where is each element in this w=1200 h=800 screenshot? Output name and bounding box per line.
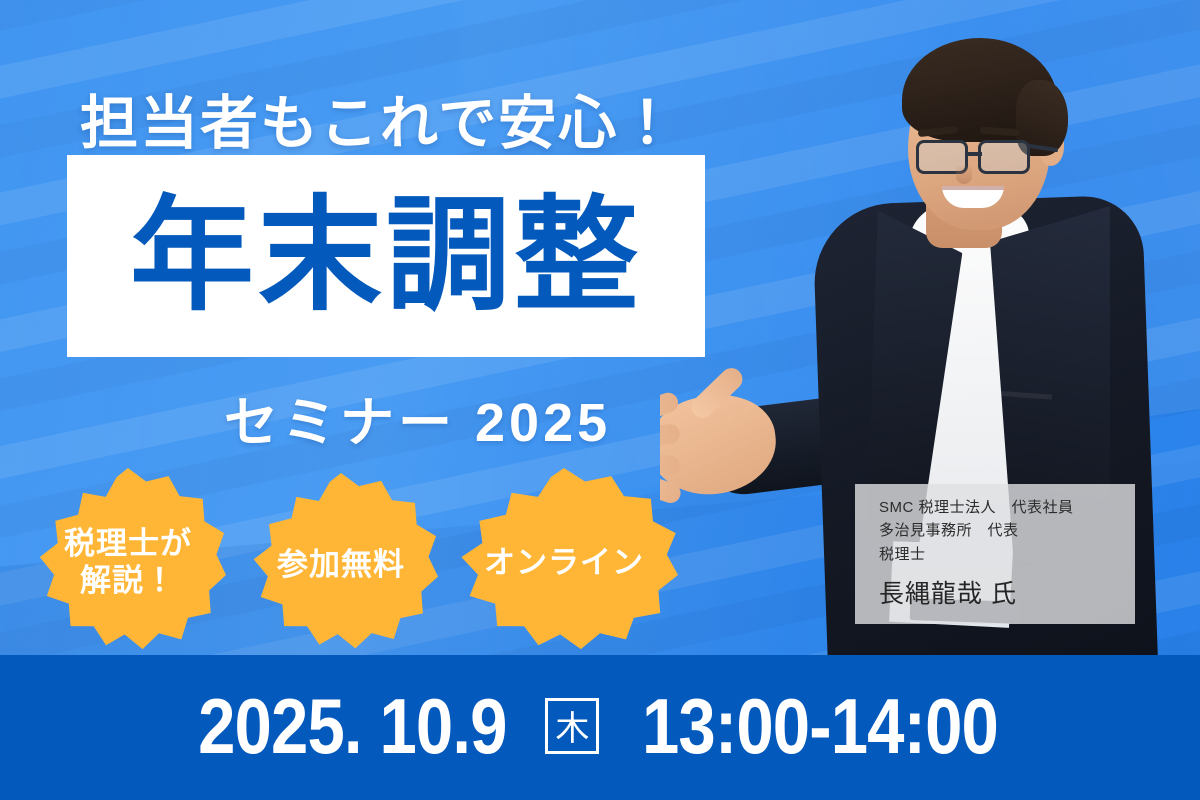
badge-2-line-1: 参加無料 [267,547,415,584]
schedule-bar: 2025. 10.9 木 13:00-14:00 [0,655,1200,800]
page-title: 年末調整 [130,194,642,318]
event-date: 2025. 10.9 [198,687,506,765]
speaker-glasses-lens-right [978,140,1030,174]
speaker-affiliation-line-2: 多治見事務所 代表 [879,519,1135,542]
event-weekday-badge: 木 [545,698,599,754]
speaker-glasses-bridge [966,152,982,156]
speaker-affiliation-line-1: SMC 税理士法人 代表社員 [879,496,1135,519]
speaker-affiliation-line-3: 税理士 [879,543,1135,566]
speaker-credentials-box: SMC 税理士法人 代表社員 多治見事務所 代表 税理士 長縄龍哉 氏 [855,484,1135,624]
headline-text: 担当者もこれで安心！ [80,76,678,160]
schedule-inner: 2025. 10.9 木 13:00-14:00 [173,687,1028,765]
seminar-banner: 担当者もこれで安心！ 年末調整 セミナー 2025 税理士が 解説！ 参加無料 … [0,0,1200,800]
badge-1-line-2: 解説！ [54,563,202,600]
badge-1-line-1: 税理士が [54,526,202,563]
speaker-name: 長縄龍哉 氏 [879,574,1135,610]
subtitle-text: セミナー 2025 [224,378,611,457]
title-box: 年末調整 [67,155,705,357]
speaker-nose [956,164,972,184]
event-time: 13:00-14:00 [642,687,998,765]
badge-3-line-1: オンライン [474,545,654,582]
